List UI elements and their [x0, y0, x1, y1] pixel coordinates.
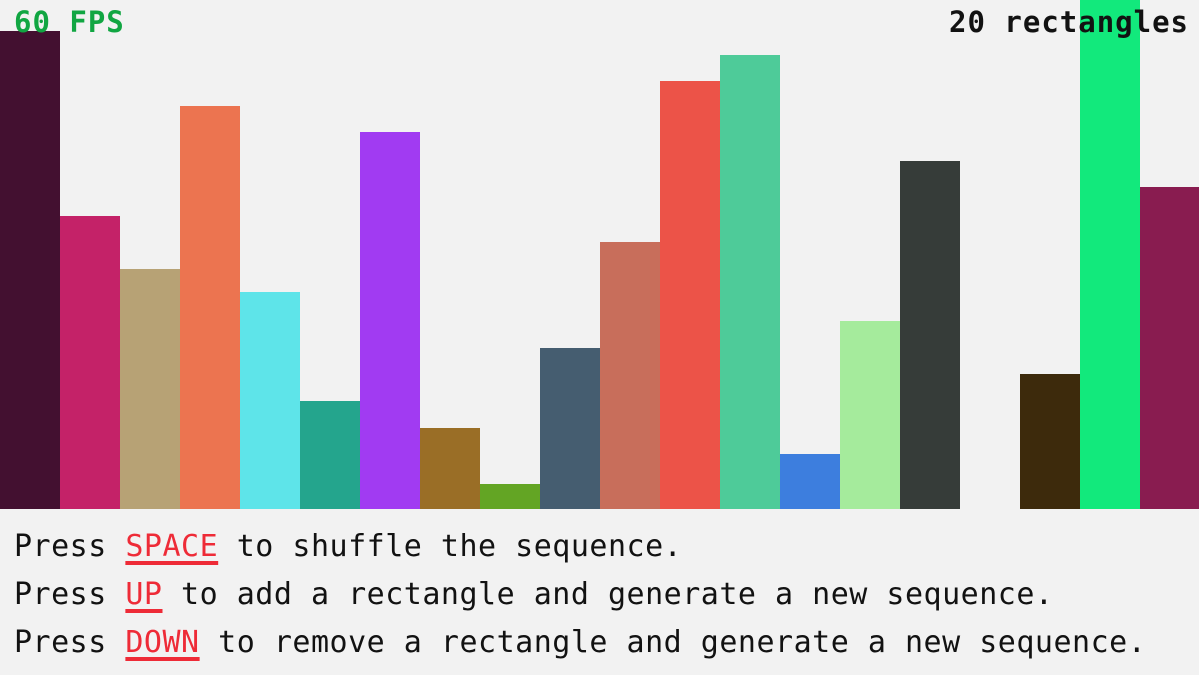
key-down[interactable]: DOWN — [125, 625, 199, 660]
bar-9 — [480, 484, 540, 509]
bar-19 — [1080, 0, 1140, 509]
bar-6 — [300, 401, 360, 509]
bar-5 — [240, 292, 300, 509]
instruction-prefix: Press — [14, 577, 125, 612]
instruction-suffix: to add a rectangle and generate a new se… — [163, 577, 1054, 612]
bar-12 — [660, 81, 720, 509]
game-canvas[interactable]: 60 FPS 20 rectangles Press SPACE to shuf… — [0, 0, 1199, 675]
instruction-line-shuffle: Press SPACE to shuffle the sequence. — [14, 523, 1199, 571]
key-space[interactable]: SPACE — [125, 529, 218, 564]
bar-chart — [0, 0, 1199, 509]
bar-18 — [1020, 374, 1080, 509]
bar-13 — [720, 55, 780, 509]
bar-7 — [360, 132, 420, 509]
bar-2 — [60, 216, 120, 509]
instructions-panel: Press SPACE to shuffle the sequence. Pre… — [0, 509, 1199, 675]
bar-14 — [780, 454, 840, 509]
key-up[interactable]: UP — [125, 577, 162, 612]
bar-11 — [600, 242, 660, 509]
bar-20 — [1140, 187, 1199, 509]
instruction-suffix: to shuffle the sequence. — [218, 529, 682, 564]
instruction-prefix: Press — [14, 529, 125, 564]
instruction-suffix: to remove a rectangle and generate a new… — [200, 625, 1147, 660]
bar-1 — [0, 31, 60, 509]
bar-15 — [840, 321, 900, 509]
instruction-line-add: Press UP to add a rectangle and generate… — [14, 571, 1199, 619]
bar-10 — [540, 348, 600, 509]
bar-3 — [120, 269, 180, 509]
bar-4 — [180, 106, 240, 509]
bar-8 — [420, 428, 480, 509]
bar-16 — [900, 161, 960, 509]
instruction-prefix: Press — [14, 625, 125, 660]
instruction-line-remove: Press DOWN to remove a rectangle and gen… — [14, 619, 1199, 667]
